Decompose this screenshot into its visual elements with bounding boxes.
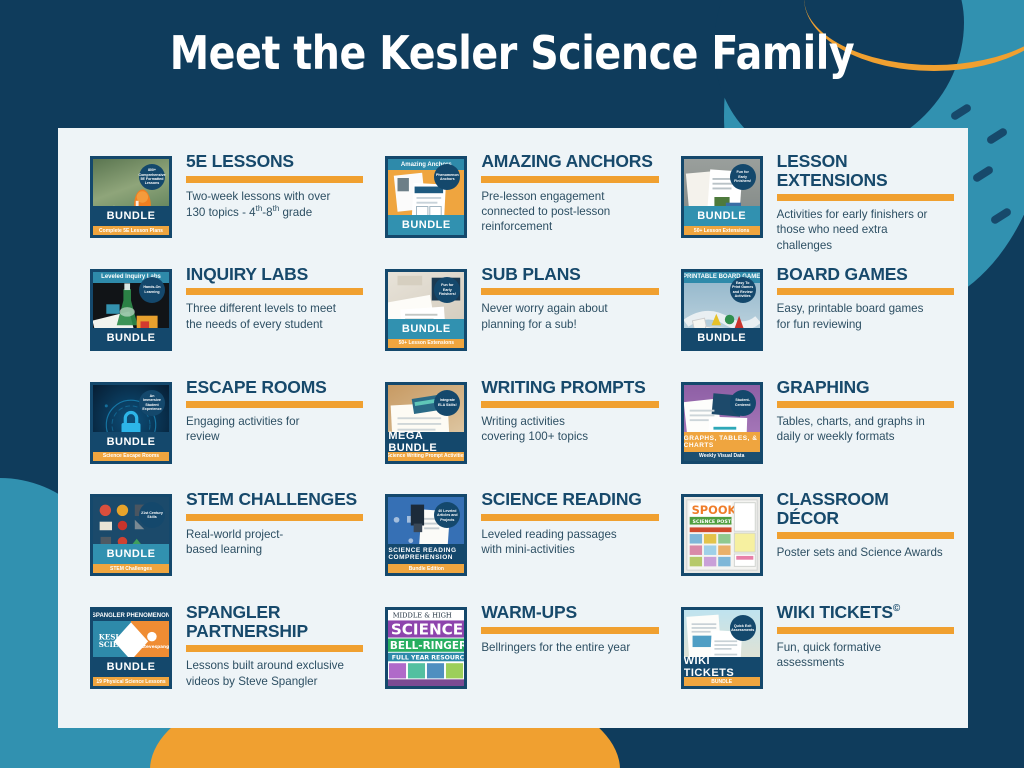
product-text: CLASSROOM DÉCORPoster sets and Science A…	[777, 488, 954, 560]
product-description: Leveled reading passageswith mini-activi…	[481, 527, 658, 558]
product-thumbnail[interactable]: Quick Exit AssessmentsWIKI TICKETSBUNDLE	[681, 607, 763, 689]
thumbnail-subribbon: 50+ Lesson Extensions	[388, 339, 464, 348]
product-item[interactable]: KESLERSCIENCEstevespanglerSPANGLER PHENO…	[72, 601, 363, 714]
product-thumbnail[interactable]: 40 Leveled Articles and ProjectsSCIENCE …	[385, 494, 467, 576]
page-title: Meet the Kesler Science Family	[72, 26, 953, 80]
product-thumbnail[interactable]: SPOOKYSCIENCE POSTERS	[681, 494, 763, 576]
product-panel: 800+ Comprehensive 5E Formatted LessonsB…	[58, 128, 968, 728]
product-text: BOARD GAMESEasy, printable board gamesfo…	[777, 263, 954, 332]
product-name: ESCAPE ROOMS	[186, 378, 363, 397]
product-thumbnail[interactable]: Amazing AnchorsPhenomenon AnchorsBUNDLE	[385, 156, 467, 238]
product-item[interactable]: Quick Exit AssessmentsWIKI TICKETSBUNDLE…	[663, 601, 954, 714]
product-text: LESSON EXTENSIONSActivities for early fi…	[777, 150, 954, 253]
product-name: STEM CHALLENGES	[186, 490, 363, 509]
product-text: GRAPHINGTables, charts, and graphs indai…	[777, 376, 954, 445]
product-description: Three different levels to meetthe needs …	[186, 301, 363, 332]
product-item[interactable]: MIDDLE & HIGHSCIENCEBELL-RINGERSFULL YEA…	[367, 601, 658, 714]
thumbnail-subribbon: 50+ Lesson Extensions	[684, 226, 760, 235]
product-name: 5E LESSONS	[186, 152, 363, 171]
accent-rule	[481, 627, 658, 634]
product-thumbnail[interactable]: Fun for Early Finishers!BUNDLE50+ Lesson…	[681, 156, 763, 238]
product-name: SUB PLANS	[481, 265, 658, 284]
slide-canvas: Meet the Kesler Science Family 800+ Comp…	[0, 0, 1024, 768]
accent-rule	[777, 401, 954, 408]
thumbnail-subribbon: Science Escape Rooms	[93, 452, 169, 461]
accent-rule	[186, 401, 363, 408]
product-description: Bellringers for the entire year	[481, 640, 658, 655]
svg-text:BELL-RINGERS: BELL-RINGERS	[390, 640, 464, 652]
accent-rule	[777, 194, 954, 201]
product-item[interactable]: Amazing AnchorsPhenomenon AnchorsBUNDLEA…	[367, 150, 658, 263]
accent-rule	[777, 532, 954, 539]
product-thumbnail[interactable]: 21st Century SkillsBUNDLESTEM Challenges	[90, 494, 172, 576]
thumbnail-subribbon: Weekly Visual Data	[684, 452, 760, 461]
product-name: BOARD GAMES	[777, 265, 954, 284]
product-text: WRITING PROMPTSWriting activitiescoverin…	[481, 376, 658, 445]
thumbnail-subribbon: Science Writing Prompt Activities	[388, 452, 464, 461]
product-description: Lessons built around exclusivevideos by …	[186, 658, 363, 689]
thumbnail-ribbon: GRAPHS, TABLES, & CHARTS	[684, 432, 760, 452]
thumbnail-badge: An Immersive Student Experience	[139, 390, 165, 416]
thumbnail-subribbon: 19 Physical Science Lessons	[93, 677, 169, 686]
product-item[interactable]: Student-CenteredGRAPHS, TABLES, & CHARTS…	[663, 376, 954, 489]
product-thumbnail[interactable]: Fun for Early Finishers!BUNDLE50+ Lesson…	[385, 269, 467, 351]
thumbnail-badge: Hands-On Learning	[139, 277, 165, 303]
svg-text:FULL YEAR RESOURCE: FULL YEAR RESOURCE	[392, 655, 464, 662]
accent-rule	[481, 288, 658, 295]
product-description: Activities for early finishers orthose w…	[777, 207, 954, 253]
thumbnail-ribbon: BUNDLE	[684, 328, 760, 348]
product-item[interactable]: Leveled Inquiry LabsHands-On LearningBUN…	[72, 263, 363, 376]
product-thumbnail[interactable]: 800+ Comprehensive 5E Formatted LessonsB…	[90, 156, 172, 238]
accent-rule	[186, 176, 363, 183]
svg-text:MIDDLE & HIGH: MIDDLE & HIGH	[393, 612, 452, 620]
accent-rule	[186, 645, 363, 652]
product-description: Two-week lessons with over130 topics - 4…	[186, 189, 363, 220]
product-item[interactable]: An Immersive Student ExperienceBUNDLESci…	[72, 376, 363, 489]
thumbnail-ribbon: BUNDLE	[93, 657, 169, 677]
product-thumbnail[interactable]: KESLERSCIENCEstevespanglerSPANGLER PHENO…	[90, 607, 172, 689]
product-description: Pre-lesson engagementconnected to post-l…	[481, 189, 658, 235]
thumbnail-ribbon: SCIENCE READING COMPREHENSION	[388, 544, 464, 564]
thumbnail-ribbon: BUNDLE	[388, 215, 464, 235]
product-text: WIKI TICKETS©Fun, quick formativeassessm…	[777, 601, 954, 670]
product-name: INQUIRY LABS	[186, 265, 363, 284]
thumbnail-ribbon: MEGA BUNDLE	[388, 432, 464, 452]
product-description: Writing activitiescovering 100+ topics	[481, 414, 658, 445]
thumbnail-badge: Easy To Print Games and Review Activitie…	[730, 277, 756, 303]
product-item[interactable]: 40 Leveled Articles and ProjectsSCIENCE …	[367, 488, 658, 601]
product-description: Real-world project-based learning	[186, 527, 363, 558]
product-description: Engaging activities forreview	[186, 414, 363, 445]
product-text: STEM CHALLENGESReal-world project-based …	[186, 488, 363, 557]
thumbnail-ribbon: WIKI TICKETS	[684, 657, 760, 677]
product-item[interactable]: Integrate ELA Skills!MEGA BUNDLEScience …	[367, 376, 658, 489]
accent-rule	[186, 288, 363, 295]
product-name: SCIENCE READING	[481, 490, 658, 509]
thumbnail-top-label: SPANGLER PHENOMENON	[93, 610, 169, 621]
thumbnail-ribbon: BUNDLE	[93, 544, 169, 564]
product-thumbnail[interactable]: Leveled Inquiry LabsHands-On LearningBUN…	[90, 269, 172, 351]
svg-text:stevespangler: stevespangler	[141, 644, 169, 650]
thumbnail-badge: Student-Centered	[730, 390, 756, 416]
product-item[interactable]: 21st Century SkillsBUNDLESTEM Challenges…	[72, 488, 363, 601]
product-name: WRITING PROMPTS	[481, 378, 658, 397]
accent-rule	[777, 288, 954, 295]
product-thumbnail[interactable]: PRINTABLE BOARD GAMEEasy To Print Games …	[681, 269, 763, 351]
product-name: LESSON EXTENSIONS	[777, 152, 954, 189]
thumbnail-badge: Quick Exit Assessments	[730, 615, 756, 641]
product-item[interactable]: PRINTABLE BOARD GAMEEasy To Print Games …	[663, 263, 954, 376]
thumbnail-badge: 800+ Comprehensive 5E Formatted Lessons	[139, 164, 165, 190]
thumbnail-ribbon: BUNDLE	[684, 206, 760, 226]
thumbnail-ribbon: BUNDLE	[93, 206, 169, 226]
product-thumbnail[interactable]: MIDDLE & HIGHSCIENCEBELL-RINGERSFULL YEA…	[385, 607, 467, 689]
product-description: Never worry again aboutplanning for a su…	[481, 301, 658, 332]
thumbnail-badge: Integrate ELA Skills!	[434, 390, 460, 416]
accent-rule	[481, 176, 658, 183]
accent-rule	[481, 514, 658, 521]
product-text: SPANGLER PARTNERSHIPLessons built around…	[186, 601, 363, 689]
product-thumbnail[interactable]: Integrate ELA Skills!MEGA BUNDLEScience …	[385, 382, 467, 464]
product-text: ESCAPE ROOMSEngaging activities forrevie…	[186, 376, 363, 445]
product-thumbnail[interactable]: Student-CenteredGRAPHS, TABLES, & CHARTS…	[681, 382, 763, 464]
product-text: WARM-UPSBellringers for the entire year	[481, 601, 658, 655]
product-text: AMAZING ANCHORSPre-lesson engagementconn…	[481, 150, 658, 234]
header: Meet the Kesler Science Family	[0, 0, 1024, 126]
accent-rule	[481, 401, 658, 408]
svg-text:SCIENCE: SCIENCE	[391, 621, 463, 639]
thumbnail-subribbon: STEM Challenges	[93, 564, 169, 573]
accent-rule	[777, 627, 954, 634]
product-name: AMAZING ANCHORS	[481, 152, 658, 171]
thumbnail-badge: Fun for Early Finishers!	[434, 277, 460, 303]
product-item[interactable]: Fun for Early Finishers!BUNDLE50+ Lesson…	[663, 150, 954, 263]
product-name: CLASSROOM DÉCOR	[777, 490, 954, 527]
product-item[interactable]: SPOOKYSCIENCE POSTERSCLASSROOM DÉCORPost…	[663, 488, 954, 601]
product-text: SCIENCE READINGLeveled reading passagesw…	[481, 488, 658, 557]
product-name: WARM-UPS	[481, 603, 658, 622]
product-description: Poster sets and Science Awards	[777, 545, 954, 560]
product-description: Easy, printable board gamesfor fun revie…	[777, 301, 954, 332]
product-grid: 800+ Comprehensive 5E Formatted LessonsB…	[58, 128, 968, 728]
product-name: SPANGLER PARTNERSHIP	[186, 603, 363, 640]
thumbnail-ribbon: BUNDLE	[93, 328, 169, 348]
product-text: INQUIRY LABSThree different levels to me…	[186, 263, 363, 332]
product-description: Tables, charts, and graphs indaily or we…	[777, 414, 954, 445]
accent-rule	[186, 514, 363, 521]
product-text: 5E LESSONSTwo-week lessons with over130 …	[186, 150, 363, 220]
product-name: WIKI TICKETS©	[777, 603, 954, 622]
product-item[interactable]: 800+ Comprehensive 5E Formatted LessonsB…	[72, 150, 363, 263]
product-name: GRAPHING	[777, 378, 954, 397]
product-description: Fun, quick formativeassessments	[777, 640, 954, 671]
thumbnail-ribbon: BUNDLE	[388, 319, 464, 339]
svg-text:SCIENCE: SCIENCE	[99, 640, 137, 649]
thumbnail-subribbon: Bundle Edition	[388, 564, 464, 573]
thumbnail-subribbon: BUNDLE	[684, 677, 760, 686]
thumbnail-ribbon: BUNDLE	[93, 432, 169, 452]
product-thumbnail[interactable]: An Immersive Student ExperienceBUNDLESci…	[90, 382, 172, 464]
thumbnail-subribbon: Complete 5E Lesson Plans	[93, 226, 169, 235]
thumbnail-badge: Fun for Early Finishers!	[730, 164, 756, 190]
product-item[interactable]: Fun for Early Finishers!BUNDLE50+ Lesson…	[367, 263, 658, 376]
product-text: SUB PLANSNever worry again aboutplanning…	[481, 263, 658, 332]
